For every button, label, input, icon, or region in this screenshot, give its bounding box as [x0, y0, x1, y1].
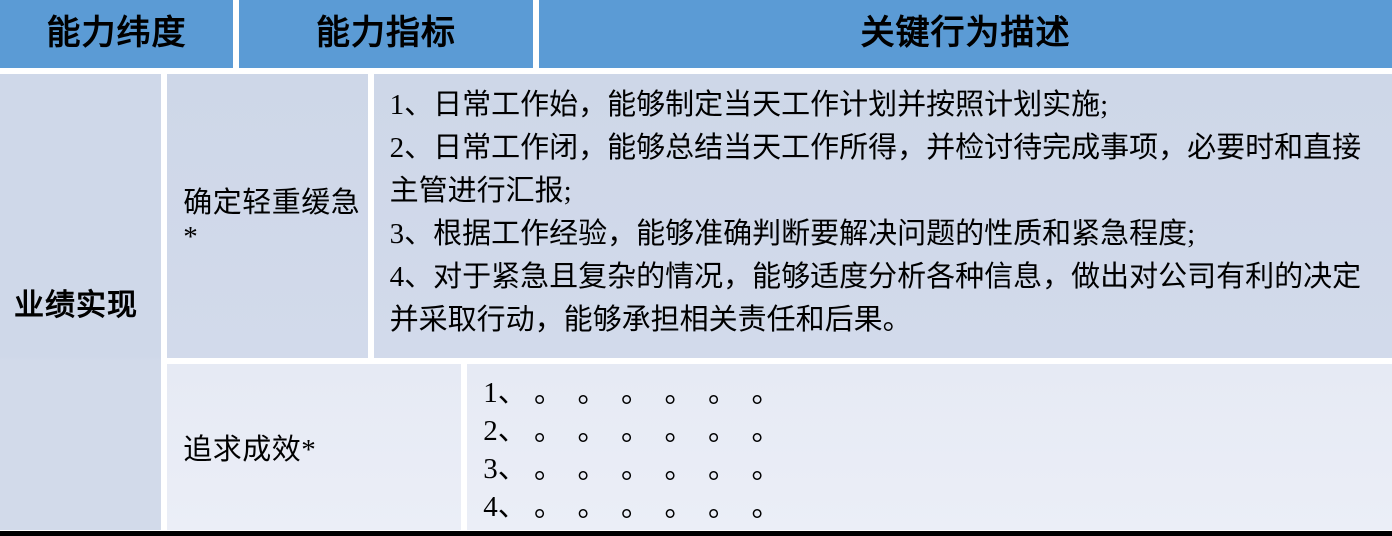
behavior-placeholder-line: 1、 。 。 。 。 。 。 — [483, 374, 1380, 412]
header-label-indicator: 能力指标 — [316, 17, 456, 51]
cell-behavior-effectiveness: 1、 。 。 。 。 。 。 2、 。 。 。 。 。 。 3、 。 。 。 。… — [467, 364, 1392, 530]
table-row: 追求成效* 1、 。 。 。 。 。 。 2、 。 。 。 。 。 。 3、 。… — [167, 364, 1392, 530]
dimension-label: 业绩实现 — [14, 280, 138, 324]
table-body: 业绩实现 确定轻重缓急* 1、日常工作始，能够制定当天工作计划并按照计划实施; … — [0, 74, 1392, 530]
header-label-dimension: 能力纬度 — [47, 17, 187, 51]
table-header-row: 能力纬度 能力指标 关键行为描述 — [0, 0, 1392, 68]
table-rows-container: 确定轻重缓急* 1、日常工作始，能够制定当天工作计划并按照计划实施; 2、日常工… — [167, 74, 1392, 530]
behavior-text: 1、日常工作始，能够制定当天工作计划并按照计划实施; 2、日常工作闭，能够总结当… — [390, 84, 1380, 342]
header-label-behavior: 关键行为描述 — [861, 17, 1071, 51]
indicator-label: 确定轻重缓急* — [183, 179, 367, 254]
indicator-label: 追求成效* — [183, 426, 316, 468]
header-cell-indicator: 能力指标 — [239, 0, 533, 68]
table-row: 确定轻重缓急* 1、日常工作始，能够制定当天工作计划并按照计划实施; 2、日常工… — [167, 74, 1392, 358]
cell-behavior-priority: 1、日常工作始，能够制定当天工作计划并按照计划实施; 2、日常工作闭，能够总结当… — [374, 74, 1392, 358]
behavior-placeholder-line: 2、 。 。 。 。 。 。 — [483, 412, 1380, 450]
header-cell-behavior: 关键行为描述 — [539, 0, 1392, 68]
cell-dimension-performance: 业绩实现 — [0, 74, 161, 530]
competency-table: 能力纬度 能力指标 关键行为描述 业绩实现 确定轻重缓急* 1、日常工作始，能够… — [0, 0, 1392, 536]
bottom-border-rule — [0, 531, 1392, 536]
cell-indicator-effectiveness: 追求成效* — [167, 364, 461, 530]
behavior-placeholder-line: 3、 。 。 。 。 。 。 — [483, 450, 1380, 488]
behavior-placeholder-line: 4、 。 。 。 。 。 。 — [483, 488, 1380, 526]
header-cell-dimension: 能力纬度 — [0, 0, 233, 68]
cell-indicator-priority: 确定轻重缓急* — [167, 74, 367, 358]
